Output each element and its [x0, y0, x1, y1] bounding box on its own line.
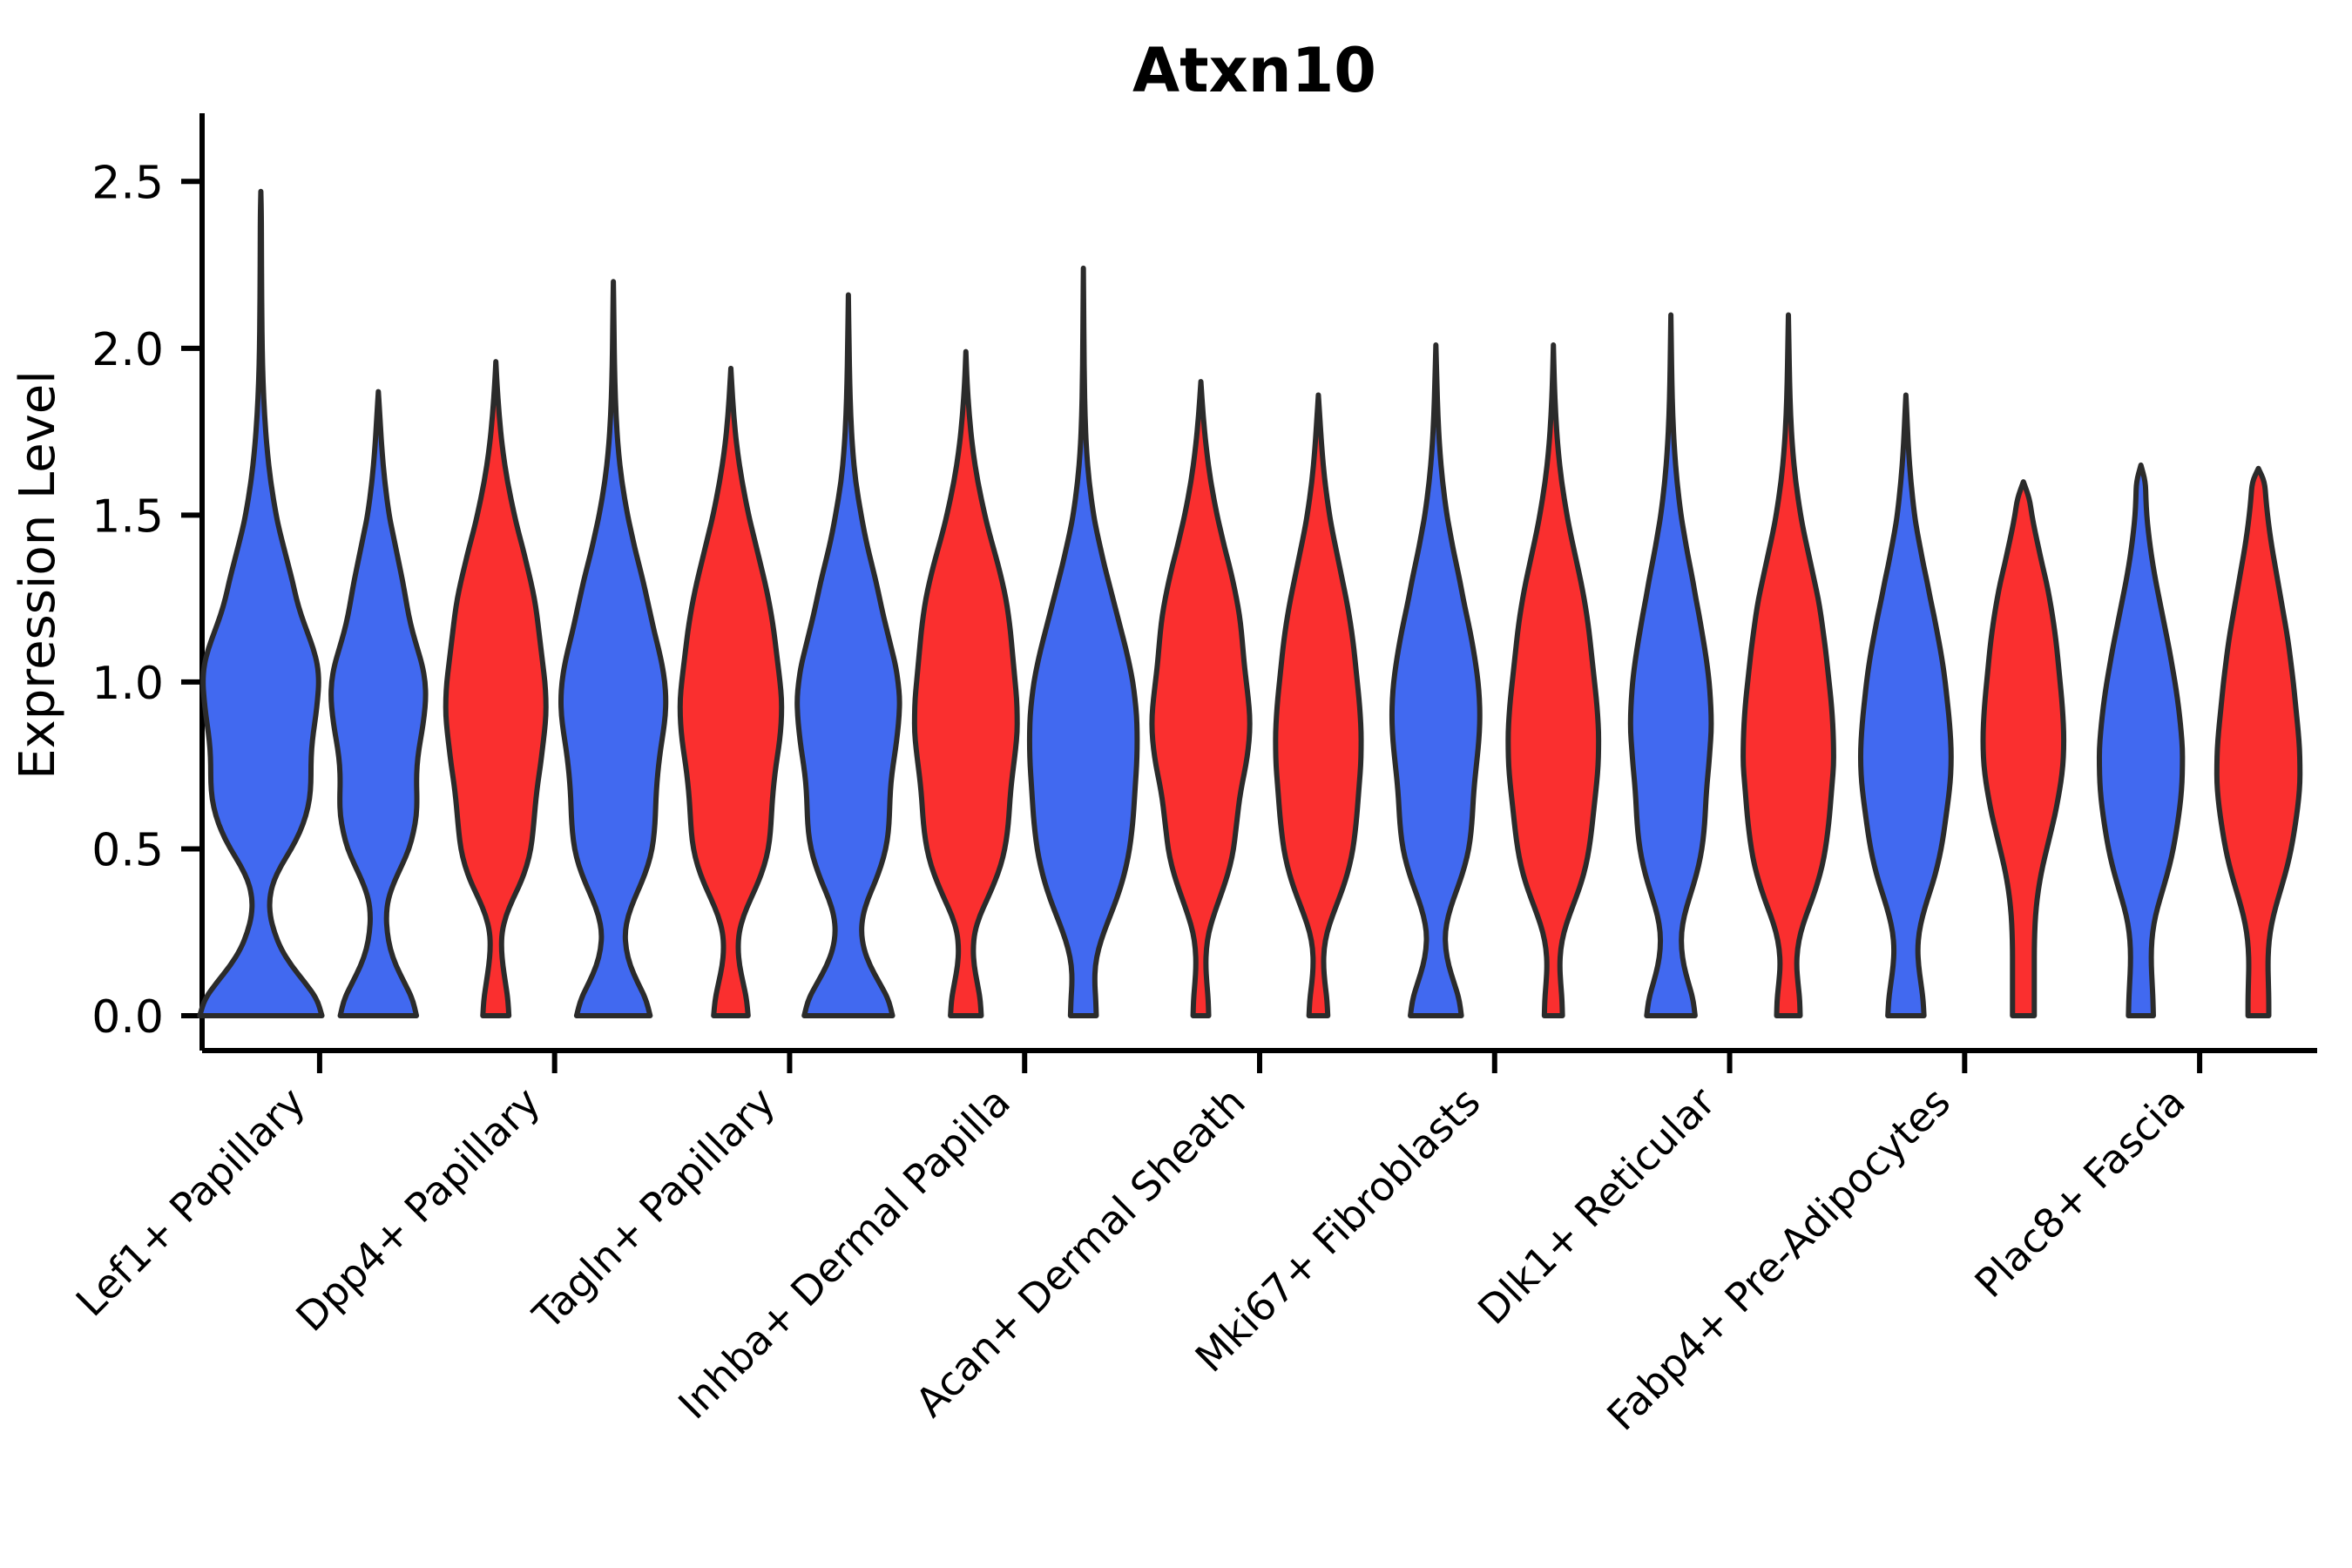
y-tick-label: 1.5 — [91, 490, 164, 543]
violin-plot-figure: Atxn10 0.00.51.01.52.02.5 Lef1+ Papillar… — [0, 0, 2352, 1568]
y-axis-title: Expression Level — [10, 370, 66, 780]
page-title: Atxn10 — [1132, 35, 1376, 106]
y-tick-label: 2.0 — [91, 324, 164, 376]
y-tick-label: 0.5 — [91, 824, 164, 876]
y-tick-label: 0.0 — [91, 991, 164, 1044]
chart-canvas: Atxn10 0.00.51.01.52.02.5 Lef1+ Papillar… — [0, 0, 2352, 1568]
y-tick-label: 1.0 — [91, 658, 164, 710]
y-tick-label: 2.5 — [91, 157, 164, 209]
